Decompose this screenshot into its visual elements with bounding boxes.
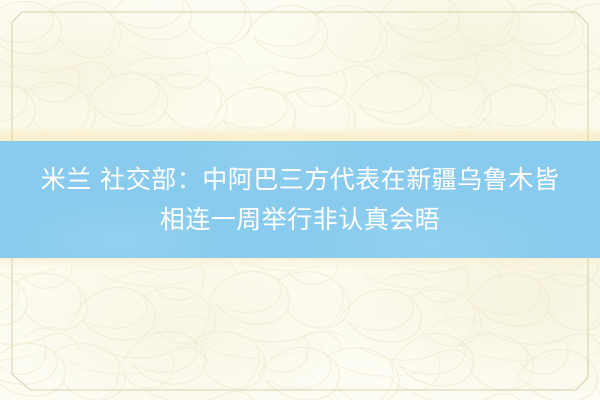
headline-band: 米兰 社交部：中阿巴三方代表在新疆乌鲁木皆 相连一周举行非认真会晤 [0, 141, 600, 258]
warm-accent-strip-top [0, 126, 600, 141]
warm-accent-strip-bottom [0, 258, 600, 268]
poster-canvas: 米兰 社交部：中阿巴三方代表在新疆乌鲁木皆 相连一周举行非认真会晤 [0, 0, 600, 400]
headline-text: 米兰 社交部：中阿巴三方代表在新疆乌鲁木皆 相连一周举行非认真会晤 [20, 160, 580, 240]
